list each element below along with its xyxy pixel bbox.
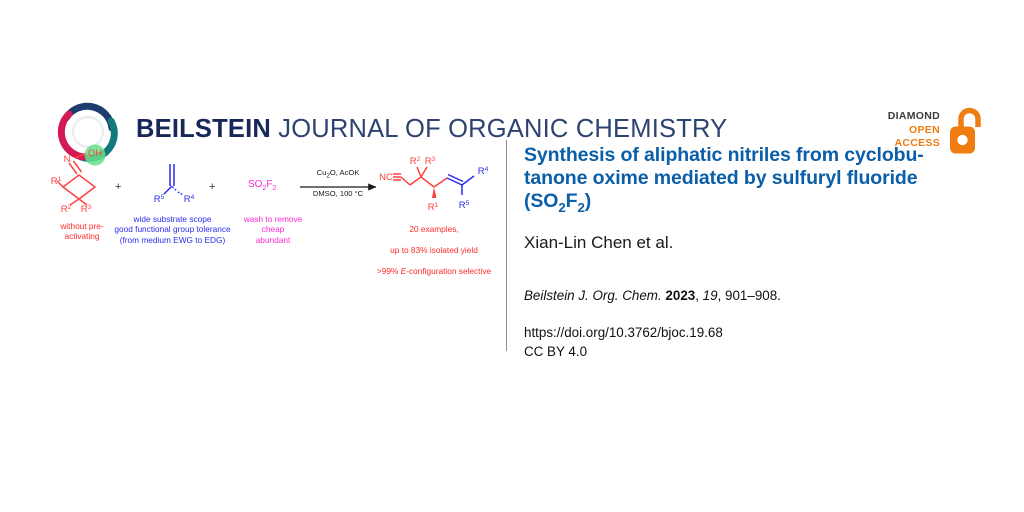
doi-and-license: https://doi.org/10.3762/bjoc.19.68 CC BY… [524, 323, 984, 361]
citation-year: 2023 [665, 288, 695, 303]
caption-product-line3-post: -configuration selective [406, 266, 491, 276]
oa-label-open: OPEN [868, 124, 940, 138]
caption-product-line2: up to 83% isolated yield [390, 245, 478, 255]
journal-masthead: BEILSTEIN JOURNAL OF ORGANIC CHEMISTRY D… [0, 45, 1024, 125]
terminal-alkene-structure [164, 164, 183, 195]
svg-text:R1: R1 [428, 202, 439, 213]
reaction-conditions-above-arrow: Cu2O, AcOK [298, 168, 378, 180]
article-title-line2: tanone oxime mediated by sulfuryl fluori… [524, 167, 917, 189]
svg-text:R5: R5 [459, 200, 470, 211]
article-title-line3-mid: F [566, 190, 578, 212]
svg-text:R5: R5 [154, 194, 165, 205]
article-title-sub1: 2 [558, 200, 565, 215]
svg-text:R3: R3 [81, 204, 92, 215]
svg-text:R1: R1 [51, 176, 62, 187]
svg-text:R4: R4 [478, 166, 489, 177]
article-cover-page: BEILSTEIN JOURNAL OF ORGANIC CHEMISTRY D… [0, 0, 1024, 512]
article-title-line3-pre: (SO [524, 190, 558, 212]
article-title-line1: Synthesis of aliphatic nitriles from cyc… [524, 144, 924, 166]
reaction-conditions-below-arrow: DMSO, 100 °C [298, 189, 378, 198]
so2f2-pre: SO [248, 179, 262, 190]
article-title-sub2: 2 [577, 200, 584, 215]
citation-line: Beilstein J. Org. Chem. 2023, 19, 901–90… [524, 287, 984, 304]
plus-operator-2: + [209, 181, 215, 193]
citation-comma-1: , [695, 288, 702, 303]
svg-text:NC: NC [379, 172, 393, 183]
doi-link[interactable]: https://doi.org/10.3762/bjoc.19.68 [524, 323, 984, 342]
caption-sulfuryl-fluoride: wash to remove cheap abundant [228, 214, 318, 245]
vertical-divider [506, 140, 507, 351]
svg-text:N: N [64, 154, 71, 165]
caption-alkene: wide substrate scope good functional gro… [100, 214, 245, 245]
article-title: Synthesis of aliphatic nitriles from cyc… [524, 144, 984, 219]
svg-text:R2: R2 [410, 156, 421, 167]
citation-journal: Beilstein J. Org. Chem. [524, 288, 662, 303]
oa-label-diamond: DIAMOND [868, 110, 940, 124]
article-metadata-column: Synthesis of aliphatic nitriles from cyc… [524, 144, 984, 361]
license-label: CC BY 4.0 [524, 342, 984, 361]
sulfuryl-fluoride-formula: SO2F2 [248, 179, 276, 192]
caption-product-line1: 20 examples, [409, 224, 458, 234]
author-list: Xian-Lin Chen et al. [524, 232, 984, 253]
citation-pages: 901–908. [725, 288, 781, 303]
svg-text:OH: OH [88, 148, 102, 159]
caption-product: 20 examples, up to 83% isolated yield >9… [358, 214, 510, 276]
caption-product-line3-pre: >99% [377, 266, 401, 276]
svg-text:R2: R2 [61, 204, 72, 215]
product-structure [393, 167, 474, 198]
svg-text:R3: R3 [425, 156, 436, 167]
plus-operator-1: + [115, 181, 121, 193]
so2f2-sub2: 2 [272, 185, 276, 192]
article-title-line3-post: ) [585, 190, 591, 212]
citation-volume: 19 [703, 288, 718, 303]
citation-comma-2: , [718, 288, 725, 303]
svg-text:R4: R4 [184, 194, 195, 205]
